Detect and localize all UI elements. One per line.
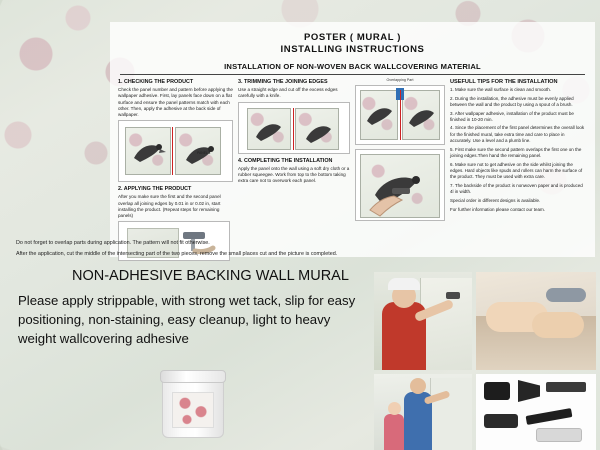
- step-3-body: Use a straight edge and cut off the exce…: [238, 87, 350, 99]
- steps-columns: 1. CHECKING THE PRODUCT Check the panel …: [116, 79, 589, 265]
- column-steps-3-4: 3. TRIMMING THE JOINING EDGES Use a stra…: [238, 79, 350, 265]
- tip-item: 4. Since the placement of the first pane…: [450, 125, 587, 144]
- instruction-sheet: POSTER ( MURAL ) INSTALLING INSTRUCTIONS…: [110, 22, 595, 257]
- step-2-body: After you make sure the first and the se…: [118, 194, 233, 219]
- bird-illustration-icon-3: [248, 109, 290, 149]
- tip-item: 5. First make sure the second pattern ov…: [450, 147, 587, 160]
- tip-item: 1. Make sure the wall surface is clean a…: [450, 87, 587, 93]
- column-tips: USEFULL TIPS FOR THE INSTALLATION 1. Mak…: [450, 79, 587, 265]
- cut-line-red: [293, 108, 294, 150]
- figure-completed-mural: [355, 149, 445, 221]
- photo-woman-applying-mural: [374, 272, 472, 370]
- squeegee-hand-icon: [366, 184, 416, 220]
- photo-man-and-child-installing: [374, 374, 472, 450]
- figure-step-1: PANEL 1: [118, 120, 233, 182]
- sheet-title-line1: POSTER ( MURAL ): [116, 32, 589, 43]
- figure-overlapping-panels: [355, 85, 445, 145]
- marketing-block: NON-ADHESIVE BACKING WALL MURAL Please a…: [0, 258, 600, 450]
- tip-item: For further information please contact o…: [450, 207, 587, 213]
- tip-item: Special order in different designs is av…: [450, 198, 587, 204]
- overlap-cut-line: [400, 90, 401, 140]
- tip-item: 7. The backside of the product is nonwov…: [450, 183, 587, 196]
- smoother-tool-icon: [484, 382, 510, 400]
- step-3-heading: 3. TRIMMING THE JOINING EDGES: [238, 79, 350, 86]
- product-description: Please apply strippable, with strong wet…: [18, 291, 368, 348]
- tips-heading: USEFULL TIPS FOR THE INSTALLATION: [450, 79, 587, 85]
- step-2-heading: 2. APPLYING THE PRODUCT: [118, 186, 233, 193]
- step-1-body: Check the panel number and pattern befor…: [118, 87, 233, 118]
- footnote-2: After the application, cut the middle of…: [16, 251, 337, 257]
- bird-illustration-icon-5: [361, 91, 397, 139]
- seam-roller-icon: [484, 414, 518, 428]
- step-4-body: Apply the panel onto the wall using a so…: [238, 166, 350, 185]
- paint-roller-icon: [536, 428, 582, 442]
- overlapping-part-label: Overlapping Part: [355, 79, 445, 83]
- column-steps-1-2: 1. CHECKING THE PRODUCT Check the panel …: [118, 79, 233, 265]
- step-1-heading: 1. CHECKING THE PRODUCT: [118, 79, 233, 86]
- bird-illustration-icon-4: [296, 109, 338, 149]
- figure-step-3: [238, 102, 350, 154]
- tip-item: 2. During the installation, the adhesive…: [450, 96, 587, 109]
- photo-hands-rolling-wallpaper: [476, 272, 596, 370]
- bucket-label: [172, 392, 214, 428]
- step-4-heading: 4. COMPLETING THE INSTALLATION: [238, 158, 350, 165]
- adhesive-bucket: [160, 366, 224, 438]
- product-title: NON-ADHESIVE BACKING WALL MURAL: [72, 268, 349, 284]
- column-figures: Overlapping Part: [355, 79, 445, 265]
- trim-guide-line: [172, 127, 173, 175]
- sheet-subtitle: INSTALLATION OF NON-WOVEN BACK WALLCOVER…: [116, 62, 589, 71]
- panel-1-label: PANEL 1: [197, 151, 211, 155]
- brush-tool-icon: [546, 382, 586, 392]
- sheet-title-line2: INSTALLING INSTRUCTIONS: [116, 44, 589, 55]
- footnote-1: Do not forget to overlap parts during ap…: [16, 240, 210, 246]
- bird-illustration-icon-6: [403, 91, 439, 139]
- bird-illustration-icon: [126, 128, 170, 174]
- header-divider: [120, 74, 585, 75]
- tip-item: 6. Make sure not to get adhesive on the …: [450, 162, 587, 181]
- photo-installation-tool-set: [476, 374, 596, 450]
- tip-item: 3. After wallpaper adhesive, installatio…: [450, 111, 587, 124]
